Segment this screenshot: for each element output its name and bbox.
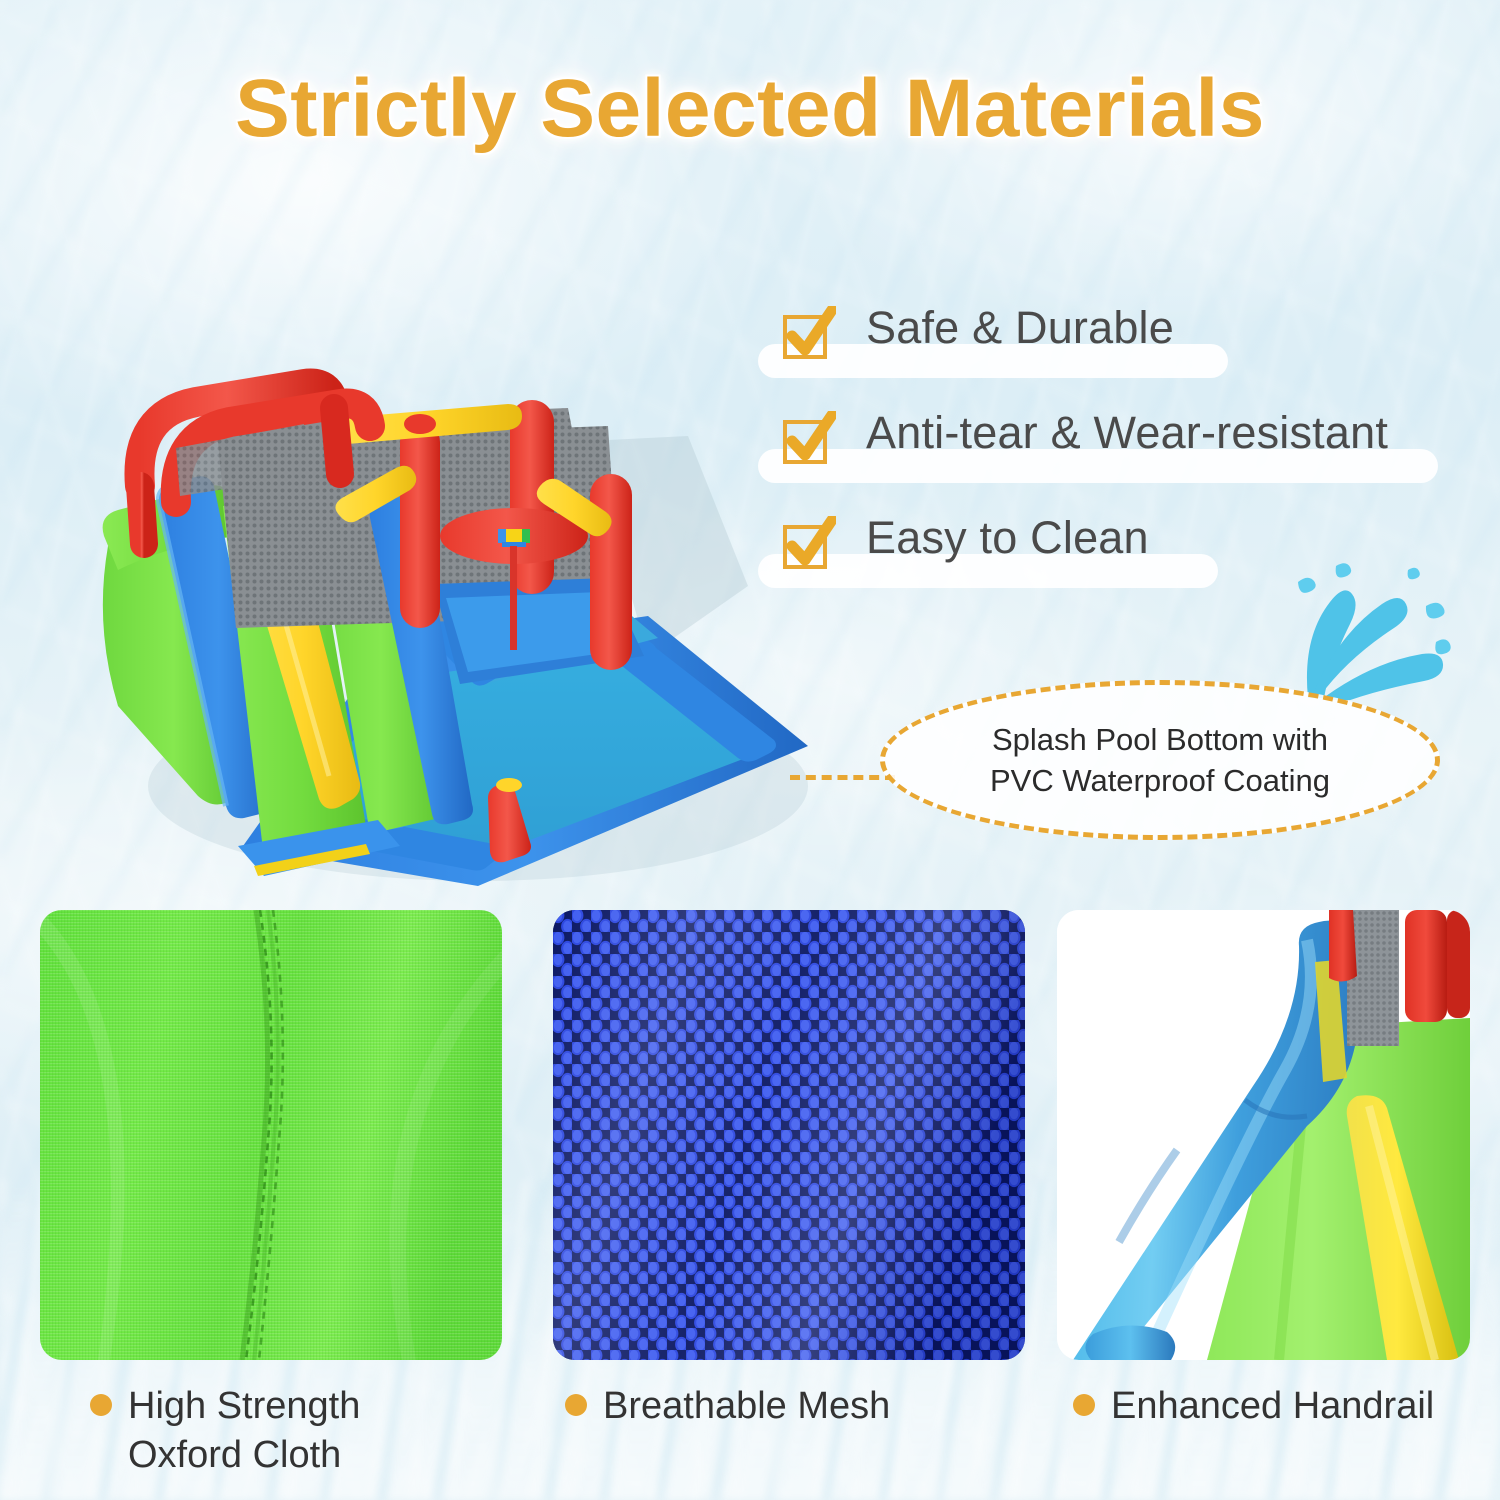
callout-line-2: PVC Waterproof Coating [990, 760, 1330, 801]
panel-caption-breathable-mesh: Breathable Mesh [565, 1382, 890, 1431]
page-title: Strictly Selected Materials [0, 62, 1500, 156]
water-splash-icon [1290, 560, 1460, 700]
poster-root: Strictly Selected Materials [0, 0, 1500, 1500]
feature-label: Safe & Durable [866, 302, 1174, 354]
caption-line-2: Oxford Cloth [128, 1434, 341, 1476]
bullet-dot-icon [565, 1394, 587, 1416]
callout-line-1: Splash Pool Bottom with [992, 719, 1328, 760]
caption-line-1: Breathable Mesh [603, 1382, 890, 1431]
bullet-dot-icon [1073, 1394, 1095, 1416]
panel-enhanced-handrail [1057, 910, 1470, 1360]
checkbox-checked-icon [780, 516, 836, 572]
checkbox-checked-icon [780, 411, 836, 467]
callout-bubble: Splash Pool Bottom with PVC Waterproof C… [880, 680, 1440, 840]
panel-oxford-cloth [40, 910, 502, 1360]
feature-label: Anti-tear & Wear-resistant [866, 407, 1388, 459]
checkbox-checked-icon [780, 306, 836, 362]
feature-label: Easy to Clean [866, 512, 1149, 564]
panel-caption-enhanced-handrail: Enhanced Handrail [1073, 1382, 1434, 1431]
caption-line-1: High Strength [128, 1385, 360, 1427]
panel-caption-oxford-cloth: High Strength Oxford Cloth [90, 1382, 360, 1481]
panel-breathable-mesh [553, 910, 1025, 1360]
feature-item: Anti-tear & Wear-resistant [770, 405, 1470, 510]
feature-item: Safe & Durable [770, 300, 1470, 405]
bullet-dot-icon [90, 1394, 112, 1416]
hero-product-image [48, 186, 848, 886]
caption-line-1: Enhanced Handrail [1111, 1382, 1434, 1431]
